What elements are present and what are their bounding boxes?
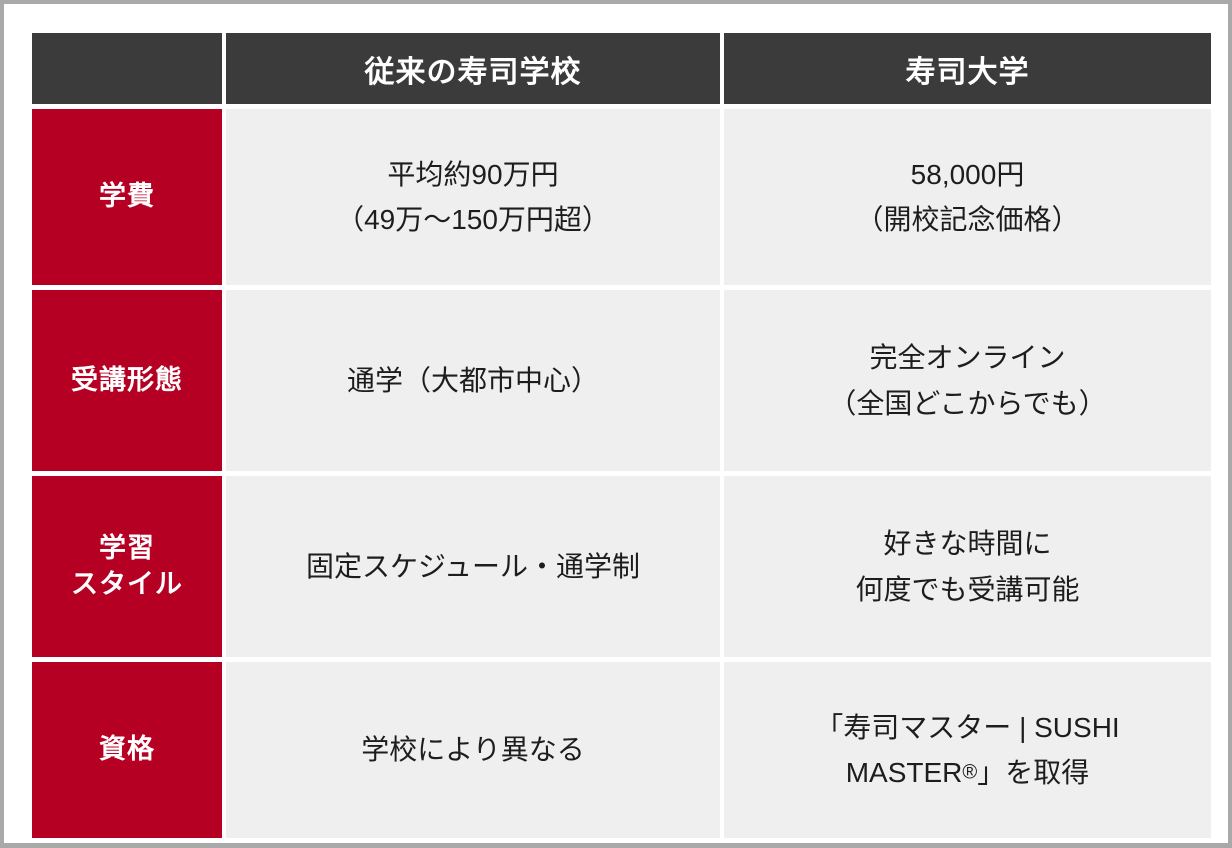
table-body: 学費 平均約90万円 （49万〜150万円超） 58,000円 （開校記念価格）… <box>32 109 1211 838</box>
cell-fees-traditional: 平均約90万円 （49万〜150万円超） <box>226 109 720 285</box>
table-row: 学習 スタイル 固定スケジュール・通学制 好きな時間に 何度でも受講可能 <box>32 476 1211 657</box>
comparison-table: 従来の寿司学校 寿司大学 学費 平均約90万円 （49万〜150万円超） 58,… <box>28 28 1215 843</box>
cell-fees-traditional-line-2: （49万〜150万円超） <box>240 197 706 242</box>
cell-style-traditional: 固定スケジュール・通学制 <box>226 476 720 657</box>
cell-format-university-line-2: （全国どこからでも） <box>738 381 1197 426</box>
table-row: 受講形態 通学（大都市中心） 完全オンライン （全国どこからでも） <box>32 290 1211 471</box>
table-header: 従来の寿司学校 寿司大学 <box>32 33 1211 104</box>
cell-certification-university-line-2: MASTER®」を取得 <box>738 750 1197 795</box>
table-row: 資格 学校により異なる 「寿司マスター | SUSHI MASTER®」を取得 <box>32 662 1211 838</box>
table-header-row: 従来の寿司学校 寿司大学 <box>32 33 1211 104</box>
header-corner-cell <box>32 33 222 104</box>
cell-fees-university-line-2: （開校記念価格） <box>738 197 1197 242</box>
row-label-fees: 学費 <box>32 109 222 285</box>
row-label-format-line-1: 受講形態 <box>32 363 222 399</box>
certification-mark-suffix: 」を取得 <box>977 757 1089 788</box>
row-label-study-style-line-2: スタイル <box>32 567 222 603</box>
row-label-format: 受講形態 <box>32 290 222 471</box>
cell-format-traditional-line-1: 通学（大都市中心） <box>240 358 706 403</box>
cell-format-traditional: 通学（大都市中心） <box>226 290 720 471</box>
cell-fees-university-line-1: 58,000円 <box>738 152 1197 197</box>
registered-trademark-icon: ® <box>962 761 977 783</box>
cell-style-university-line-1: 好きな時間に <box>738 521 1197 566</box>
certification-mark-prefix: MASTER <box>846 757 963 788</box>
cell-format-university: 完全オンライン （全国どこからでも） <box>724 290 1211 471</box>
cell-style-traditional-line-1: 固定スケジュール・通学制 <box>240 544 706 589</box>
row-label-study-style-line-1: 学習 <box>32 531 222 567</box>
cell-style-university: 好きな時間に 何度でも受講可能 <box>724 476 1211 657</box>
row-label-fees-line-1: 学費 <box>32 179 222 215</box>
row-label-certification: 資格 <box>32 662 222 838</box>
page-frame: 従来の寿司学校 寿司大学 学費 平均約90万円 （49万〜150万円超） 58,… <box>0 0 1232 848</box>
cell-fees-university: 58,000円 （開校記念価格） <box>724 109 1211 285</box>
cell-certification-traditional-line-1: 学校により異なる <box>240 727 706 772</box>
row-label-certification-line-1: 資格 <box>32 732 222 768</box>
cell-format-university-line-1: 完全オンライン <box>738 335 1197 380</box>
cell-fees-traditional-line-1: 平均約90万円 <box>240 152 706 197</box>
cell-style-university-line-2: 何度でも受講可能 <box>738 567 1197 612</box>
header-traditional-school: 従来の寿司学校 <box>226 33 720 104</box>
cell-certification-traditional: 学校により異なる <box>226 662 720 838</box>
row-label-study-style: 学習 スタイル <box>32 476 222 657</box>
cell-certification-university-line-1: 「寿司マスター | SUSHI <box>738 705 1197 750</box>
header-sushi-university: 寿司大学 <box>724 33 1211 104</box>
cell-certification-university: 「寿司マスター | SUSHI MASTER®」を取得 <box>724 662 1211 838</box>
table-row: 学費 平均約90万円 （49万〜150万円超） 58,000円 （開校記念価格） <box>32 109 1211 285</box>
